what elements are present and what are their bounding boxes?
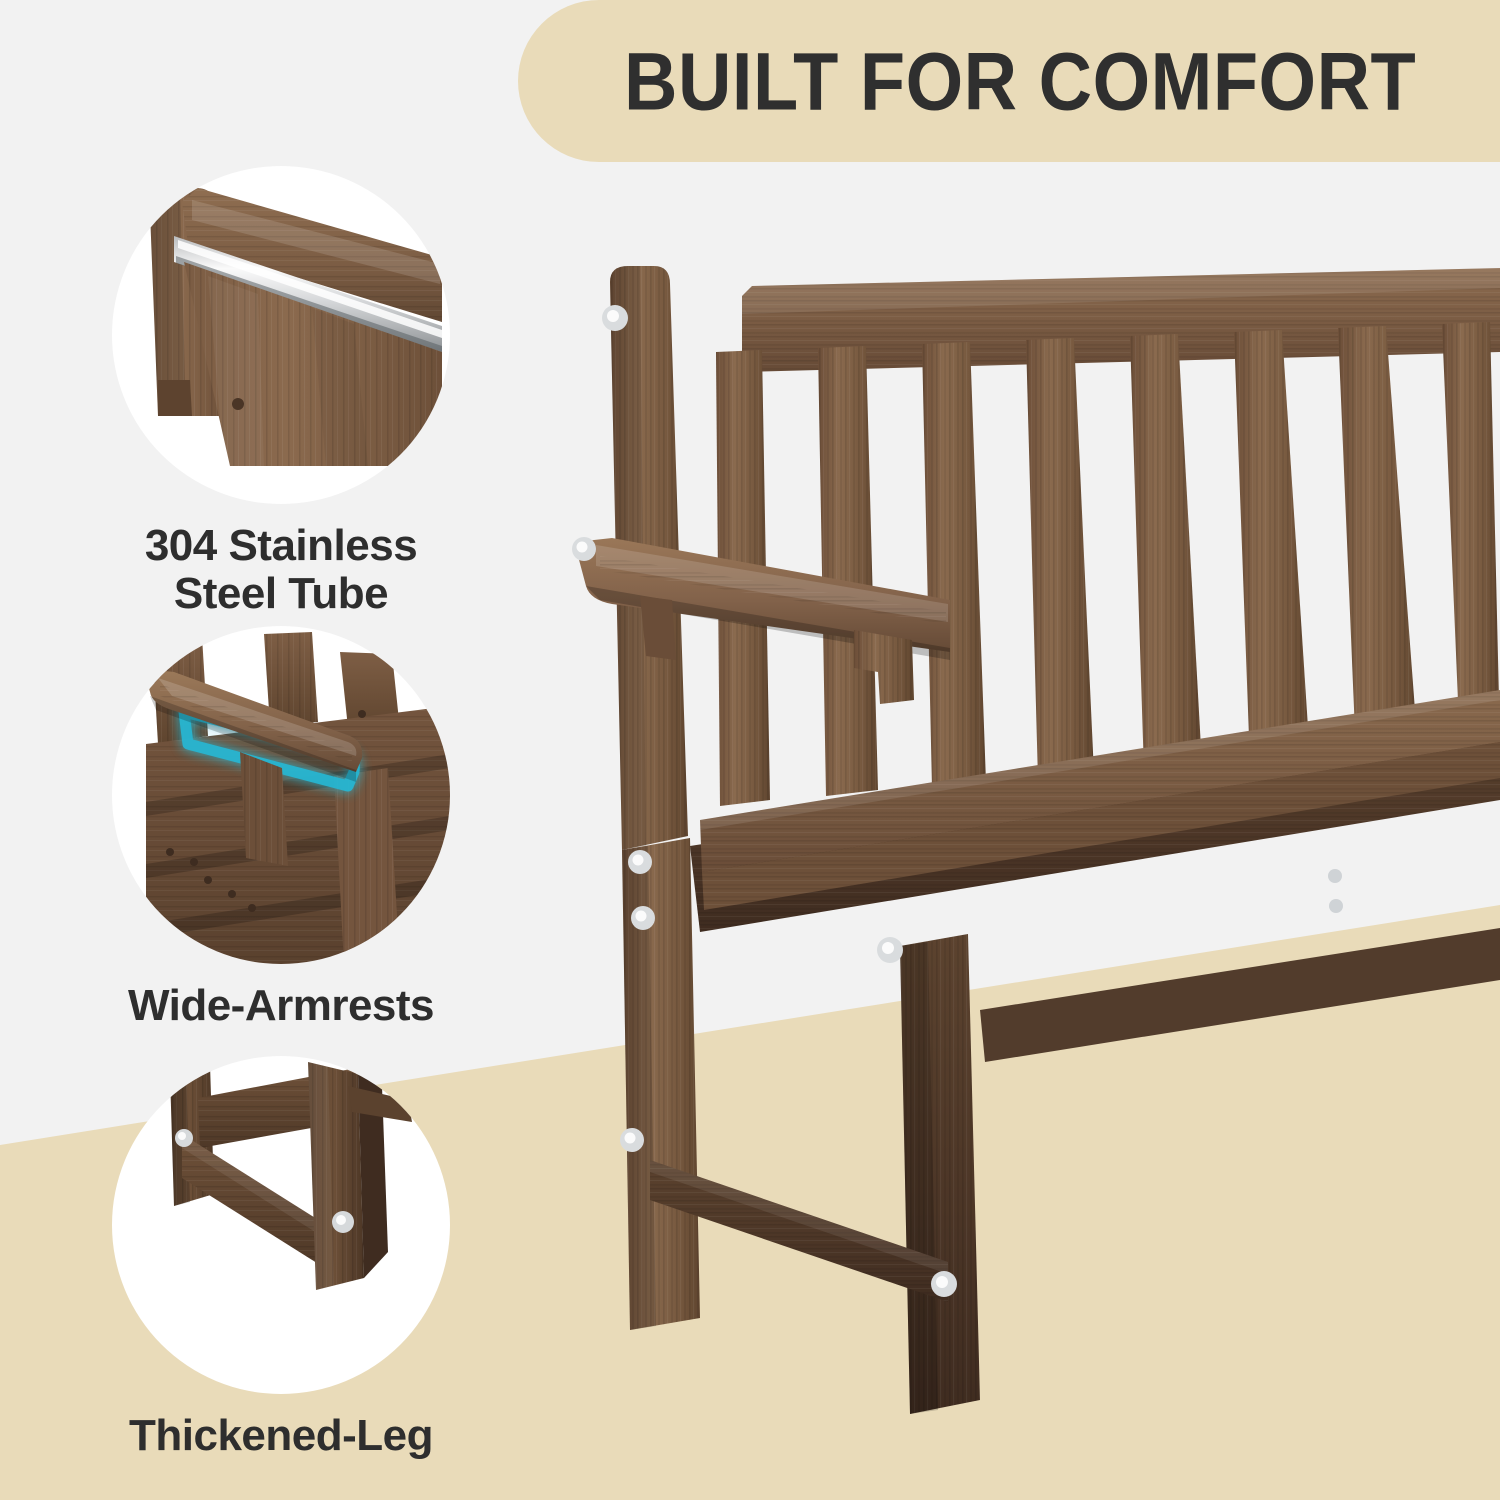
callout-thickened-leg: Thickened-Leg xyxy=(81,1056,481,1460)
leg-icon xyxy=(112,1056,450,1394)
page-title: BUILT FOR COMFORT xyxy=(624,34,1416,128)
callout-label-line1: Thickened-Leg xyxy=(81,1412,481,1460)
callout-label-line1: Wide-Armrests xyxy=(81,982,481,1030)
callout-label-line1: 304 Stainless xyxy=(81,522,481,570)
product-feature-image: 304 Stainless Steel Tube xyxy=(0,0,1500,1500)
bubble-stainless-tube xyxy=(112,166,450,504)
callout-wide-armrests: Wide-Armrests xyxy=(81,626,481,1030)
callout-stainless-tube: 304 Stainless Steel Tube xyxy=(81,166,481,617)
armrest-icon xyxy=(112,626,450,964)
bubble-wide-armrests xyxy=(112,626,450,964)
callout-label-line2: Steel Tube xyxy=(81,570,481,618)
callout-label-thickened-leg: Thickened-Leg xyxy=(81,1412,481,1460)
callout-label-stainless-tube: 304 Stainless Steel Tube xyxy=(81,522,481,617)
steel-tube-icon xyxy=(112,166,450,504)
bubble-thickened-leg xyxy=(112,1056,450,1394)
callout-label-wide-armrests: Wide-Armrests xyxy=(81,982,481,1030)
headline-banner: BUILT FOR COMFORT xyxy=(518,0,1500,162)
